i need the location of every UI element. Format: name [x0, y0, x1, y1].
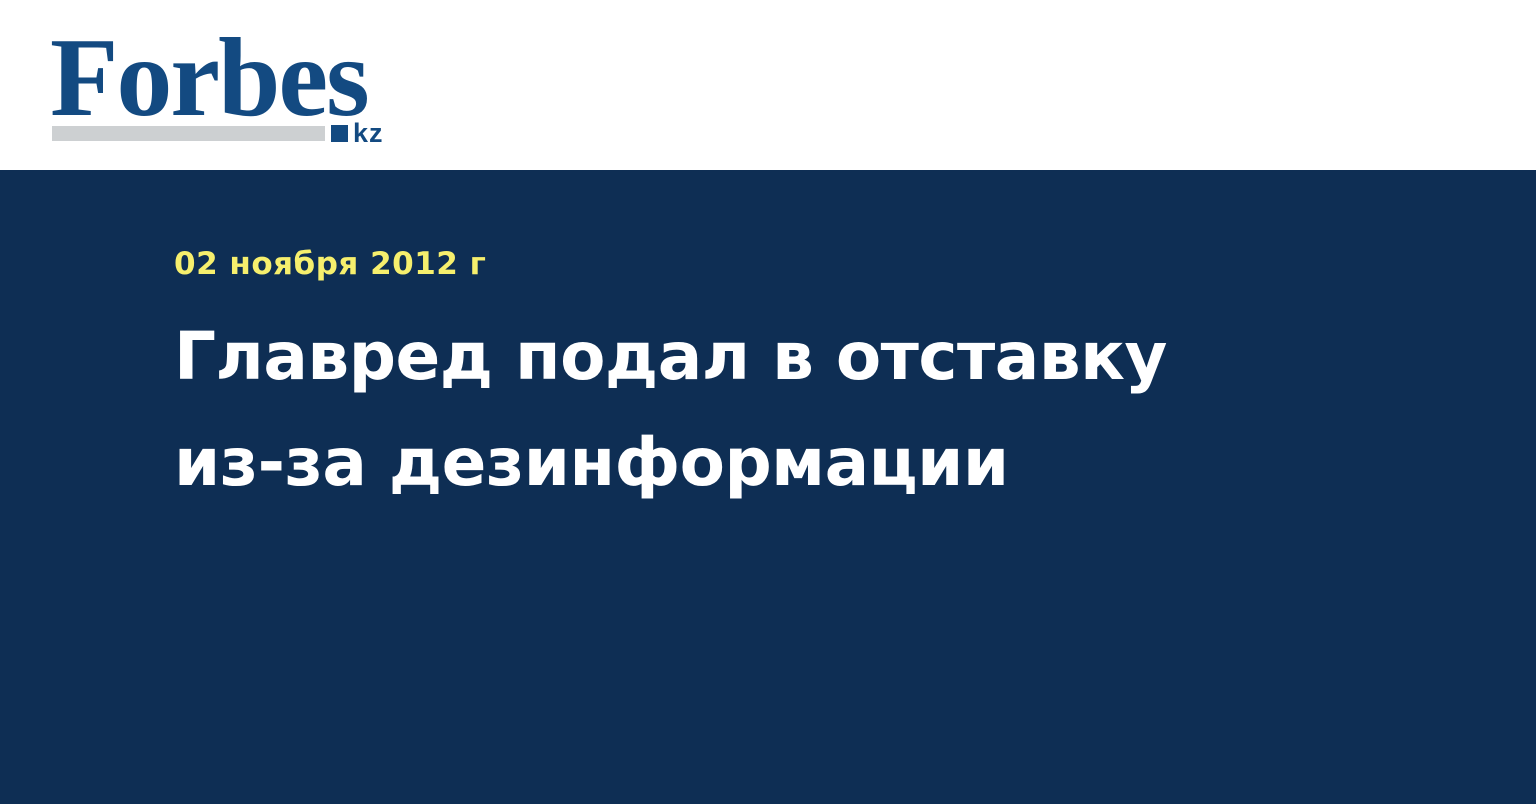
- article-title: Главред подал в отставку из-за дезинформ…: [174, 304, 1284, 516]
- article-hero-content: 02 ноября 2012 г Главред подал в отставк…: [174, 246, 1374, 516]
- blue-square-icon: [331, 125, 348, 142]
- logo-suffix-text: kz: [353, 120, 384, 147]
- article-card-page: Forbes kz 02 ноября 2012 г Главред подал…: [0, 0, 1536, 804]
- site-header: Forbes kz: [0, 0, 1536, 170]
- article-hero: 02 ноября 2012 г Главред подал в отставк…: [0, 170, 1536, 804]
- logo-wordmark-text: Forbes: [50, 22, 368, 134]
- gray-rule-divider-icon: [52, 126, 325, 141]
- article-date: 02 ноября 2012 г: [174, 246, 1374, 282]
- forbes-kz-logo[interactable]: Forbes kz: [50, 22, 410, 144]
